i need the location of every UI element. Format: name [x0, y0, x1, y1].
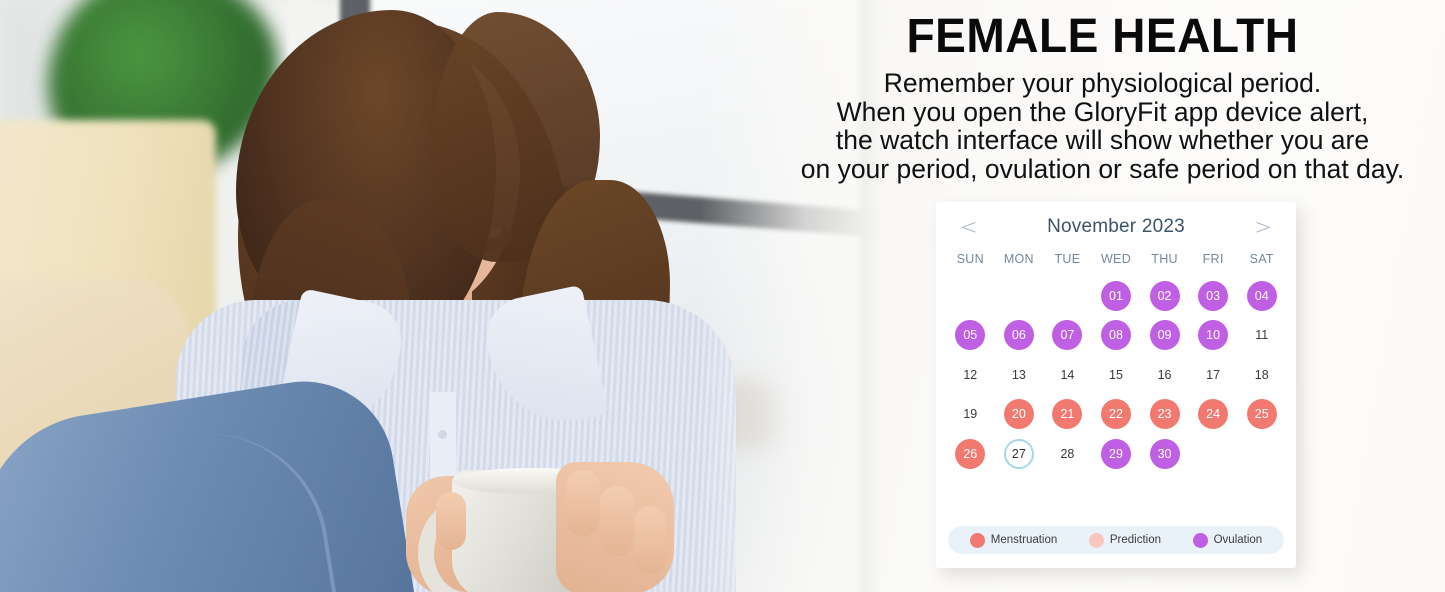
calendar-cell: 14 [1043, 355, 1092, 395]
calendar-legend: MenstruationPredictionOvulation [948, 526, 1284, 554]
calendar-day-10[interactable]: 10 [1198, 320, 1228, 350]
calendar-day-30[interactable]: 30 [1150, 439, 1180, 469]
calendar-day-09[interactable]: 09 [1150, 320, 1180, 350]
calendar-day-16[interactable]: 16 [1150, 360, 1180, 390]
photo-finger-4 [436, 492, 466, 550]
legend-dot-menstruation [970, 533, 985, 548]
calendar-empty-cell [1043, 276, 1092, 316]
calendar-day-20[interactable]: 20 [1004, 399, 1034, 429]
calendar-day-25[interactable]: 25 [1247, 399, 1277, 429]
calendar-day-12[interactable]: 12 [955, 360, 985, 390]
calendar-cell: 22 [1092, 395, 1141, 435]
calendar-day-22[interactable]: 22 [1101, 399, 1131, 429]
subtitle-text: Remember your physiological period. When… [760, 61, 1445, 183]
legend-item-prediction: Prediction [1089, 533, 1161, 548]
calendar-cell: 25 [1237, 395, 1286, 435]
calendar-cell: 03 [1189, 276, 1238, 316]
calendar-day-18[interactable]: 18 [1247, 360, 1277, 390]
calendar-day-28[interactable]: 28 [1052, 439, 1082, 469]
calendar-day-11[interactable]: 11 [1247, 320, 1277, 350]
calendar-cell: 16 [1140, 355, 1189, 395]
photo-finger-3 [634, 506, 666, 574]
calendar-day-29[interactable]: 29 [1101, 439, 1131, 469]
calendar-cell: 13 [995, 355, 1044, 395]
legend-label-menstruation: Menstruation [991, 534, 1057, 546]
calendar-day-05[interactable]: 05 [955, 320, 985, 350]
calendar-cell: 20 [995, 395, 1044, 435]
calendar-cell: 30 [1140, 434, 1189, 474]
female-health-banner: FEMALE HEALTH Remember your physiologica… [0, 0, 1445, 592]
headline-block: FEMALE HEALTH Remember your physiologica… [760, 0, 1445, 195]
calendar-day-17[interactable]: 17 [1198, 360, 1228, 390]
calendar-day-07[interactable]: 07 [1052, 320, 1082, 350]
calendar-cell: 10 [1189, 316, 1238, 356]
legend-item-ovulation: Ovulation [1193, 533, 1263, 548]
calendar-weekday-tue: TUE [1043, 252, 1092, 266]
calendar-cell: 21 [1043, 395, 1092, 435]
calendar-cell: 02 [1140, 276, 1189, 316]
page-title: FEMALE HEALTH [774, 0, 1432, 61]
calendar-weekday-thu: THU [1140, 252, 1189, 266]
calendar-day-23[interactable]: 23 [1150, 399, 1180, 429]
calendar-cell: 08 [1092, 316, 1141, 356]
legend-label-prediction: Prediction [1110, 534, 1161, 546]
legend-item-menstruation: Menstruation [970, 533, 1057, 548]
calendar-cell: 12 [946, 355, 995, 395]
calendar-cell: 07 [1043, 316, 1092, 356]
calendar-day-01[interactable]: 01 [1101, 281, 1131, 311]
calendar-day-21[interactable]: 21 [1052, 399, 1082, 429]
calendar-header: < November 2023 > [936, 202, 1296, 240]
calendar-day-03[interactable]: 03 [1198, 281, 1228, 311]
calendar-cell: 23 [1140, 395, 1189, 435]
calendar-cell: 19 [946, 395, 995, 435]
subtitle-line-1: Remember your physiological period. [760, 69, 1445, 98]
calendar-day-08[interactable]: 08 [1101, 320, 1131, 350]
photo-finger-1 [566, 470, 600, 536]
legend-label-ovulation: Ovulation [1214, 534, 1263, 546]
calendar-cell: 18 [1237, 355, 1286, 395]
calendar-cell: 28 [1043, 434, 1092, 474]
calendar-cell: 17 [1189, 355, 1238, 395]
calendar-empty-cell [995, 276, 1044, 316]
subtitle-line-4: on your period, ovulation or safe period… [760, 155, 1445, 184]
calendar-cell: 24 [1189, 395, 1238, 435]
calendar-cell: 05 [946, 316, 995, 356]
calendar-weekday-mon: MON [995, 252, 1044, 266]
photo-shirt-button-1 [438, 430, 447, 439]
calendar-cell: 06 [995, 316, 1044, 356]
calendar-cell: 26 [946, 434, 995, 474]
calendar-day-04[interactable]: 04 [1247, 281, 1277, 311]
calendar-cell: 29 [1092, 434, 1141, 474]
chevron-left-icon[interactable]: < [958, 217, 980, 238]
calendar-day-13[interactable]: 13 [1004, 360, 1034, 390]
calendar-weekday-row: SUNMONTUEWEDTHUFRISAT [936, 240, 1296, 266]
calendar-cell: 09 [1140, 316, 1189, 356]
calendar-weekday-sat: SAT [1237, 252, 1286, 266]
period-calendar-card: < November 2023 > SUNMONTUEWEDTHUFRISAT … [936, 202, 1296, 568]
photo-finger-2 [600, 486, 634, 556]
calendar-day-grid: 0102030405060708091011121314151617181920… [936, 266, 1296, 474]
subtitle-line-3: the watch interface will show whether yo… [760, 126, 1445, 155]
subtitle-line-2: When you open the GloryFit app device al… [760, 98, 1445, 127]
calendar-day-15[interactable]: 15 [1101, 360, 1131, 390]
calendar-cell: 27 [995, 434, 1044, 474]
legend-dot-ovulation [1193, 533, 1208, 548]
calendar-cell: 15 [1092, 355, 1141, 395]
calendar-cell: 01 [1092, 276, 1141, 316]
legend-dot-prediction [1089, 533, 1104, 548]
calendar-day-26[interactable]: 26 [955, 439, 985, 469]
calendar-empty-cell [946, 276, 995, 316]
calendar-weekday-wed: WED [1092, 252, 1141, 266]
chevron-right-icon[interactable]: > [1252, 217, 1274, 238]
calendar-weekday-fri: FRI [1189, 252, 1238, 266]
calendar-day-19[interactable]: 19 [955, 399, 985, 429]
calendar-weekday-sun: SUN [946, 252, 995, 266]
calendar-cell: 11 [1237, 316, 1286, 356]
calendar-day-02[interactable]: 02 [1150, 281, 1180, 311]
calendar-cell: 04 [1237, 276, 1286, 316]
lifestyle-photo [0, 0, 880, 592]
calendar-day-14[interactable]: 14 [1052, 360, 1082, 390]
calendar-day-24[interactable]: 24 [1198, 399, 1228, 429]
calendar-day-06[interactable]: 06 [1004, 320, 1034, 350]
calendar-day-27[interactable]: 27 [1004, 439, 1034, 469]
calendar-month-label: November 2023 [1047, 216, 1185, 238]
